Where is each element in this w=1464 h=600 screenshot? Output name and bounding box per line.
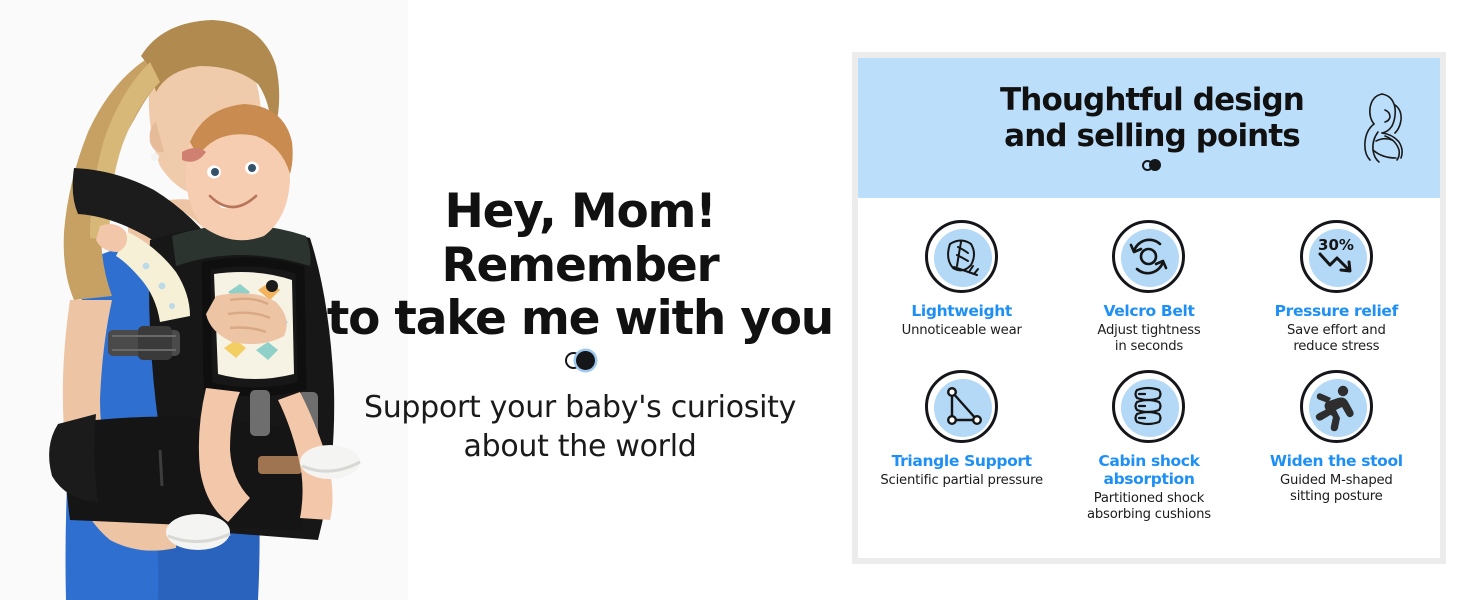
panel-header: Thoughtful design and selling points <box>858 58 1440 198</box>
features-grid: Lightweight Unnoticeable wear <box>858 198 1440 524</box>
stacked-cushions-icon <box>1112 370 1185 443</box>
running-person-icon <box>1300 370 1373 443</box>
mother-holding-baby-line-icon <box>1352 88 1414 164</box>
feature-item-cabin-shock-absorption: Cabin shock absorption Partitioned shock… <box>1055 370 1242 524</box>
feature-title: Pressure relief <box>1275 302 1398 320</box>
feature-item-lightweight: Lightweight Unnoticeable wear <box>868 220 1055 356</box>
feature-desc: Save effort and reduce stress <box>1287 323 1386 356</box>
badge-percent-label: 30% <box>1318 236 1354 254</box>
circular-arrows-icon <box>1112 220 1185 293</box>
feature-title: Velcro Belt <box>1103 302 1194 320</box>
subheadline: Support your baby's curiosity about the … <box>300 388 860 466</box>
feature-desc: Guided M-shaped sitting posture <box>1280 473 1393 506</box>
feature-desc: Partitioned shock absorbing cushions <box>1087 491 1211 524</box>
feature-item-pressure-relief: 30% Pressure relief Save effort and redu… <box>1243 220 1430 356</box>
panel-title: Thoughtful design and selling points <box>1000 83 1304 155</box>
features-panel: Thoughtful design and selling points <box>852 52 1446 564</box>
leaf-feather-icon <box>925 220 998 293</box>
divider-solid-circle <box>576 351 595 370</box>
descending-arrow-30-percent-icon: 30% <box>1300 220 1373 293</box>
hero-copy: Hey, Mom! Remember to take me with you S… <box>300 185 860 466</box>
panel-divider-solid-circle <box>1149 159 1161 171</box>
triangle-nodes-icon <box>925 370 998 443</box>
feature-title: Triangle Support <box>892 452 1032 470</box>
feature-item-widen-the-stool: Widen the stool Guided M-shaped sitting … <box>1243 370 1430 524</box>
panel-two-circles-divider-icon <box>1000 157 1304 173</box>
feature-title: Widen the stool <box>1270 452 1403 470</box>
two-circles-divider-icon <box>300 348 860 374</box>
feature-desc: Unnoticeable wear <box>902 323 1022 339</box>
feature-item-velcro-belt: Velcro Belt Adjust tightness in seconds <box>1055 220 1242 356</box>
feature-desc: Adjust tightness in seconds <box>1097 323 1200 356</box>
product-feature-banner: Hey, Mom! Remember to take me with you S… <box>0 0 1464 600</box>
feature-item-triangle-support: Triangle Support Scientific partial pres… <box>868 370 1055 524</box>
feature-title: Lightweight <box>911 302 1012 320</box>
headline: Hey, Mom! Remember to take me with you <box>300 185 860 346</box>
feature-title: Cabin shock absorption <box>1098 452 1199 488</box>
feature-desc: Scientific partial pressure <box>880 473 1043 489</box>
